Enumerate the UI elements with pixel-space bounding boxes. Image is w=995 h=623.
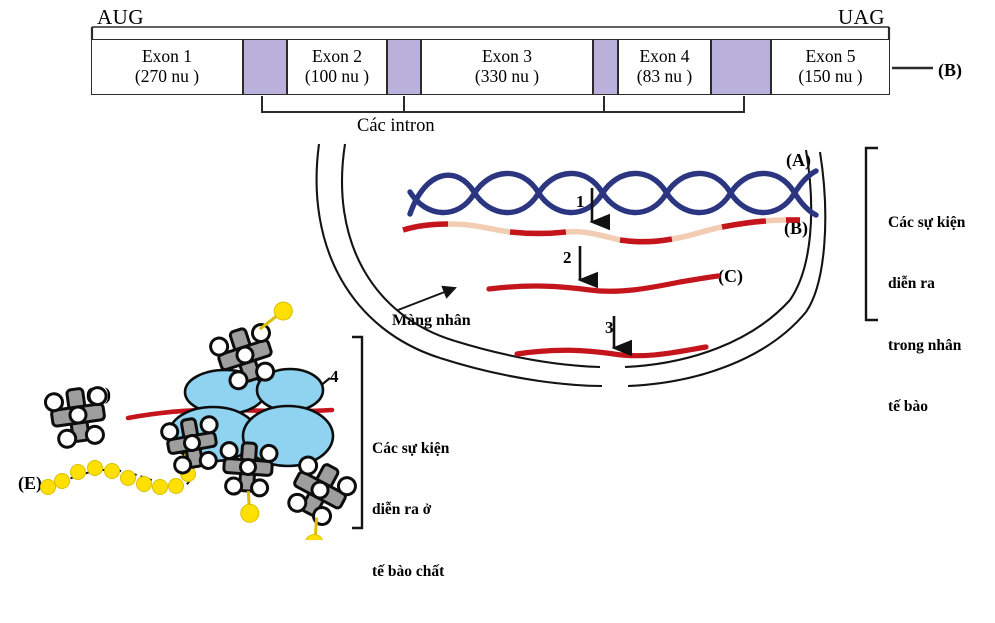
codon-ticks [92,27,889,40]
diagram-canvas: AUG UAG Exon 1 (270 nu ) Exon 2 (100 nu … [0,0,995,540]
membrane-pointer [398,288,455,310]
dna-double-helix-icon [410,171,816,215]
nucleus-events-bracket [866,148,878,320]
exported-mrna-strand [517,347,706,356]
trna-molecule-bound-center [216,441,277,524]
polypeptide-chain [41,450,201,495]
cytoplasm-events-line-3: tế bào chất [372,562,492,582]
intron-bracket [262,96,744,112]
amino-acid-ball [272,300,295,323]
trna-molecule-bound-left [160,415,224,476]
mature-mrna-strand [489,276,718,291]
cytoplasm-events-bracket [352,337,362,528]
pre-mrna-strand [403,220,800,242]
trna-molecule-free-left [44,385,112,449]
amino-acid-ball [240,504,259,523]
